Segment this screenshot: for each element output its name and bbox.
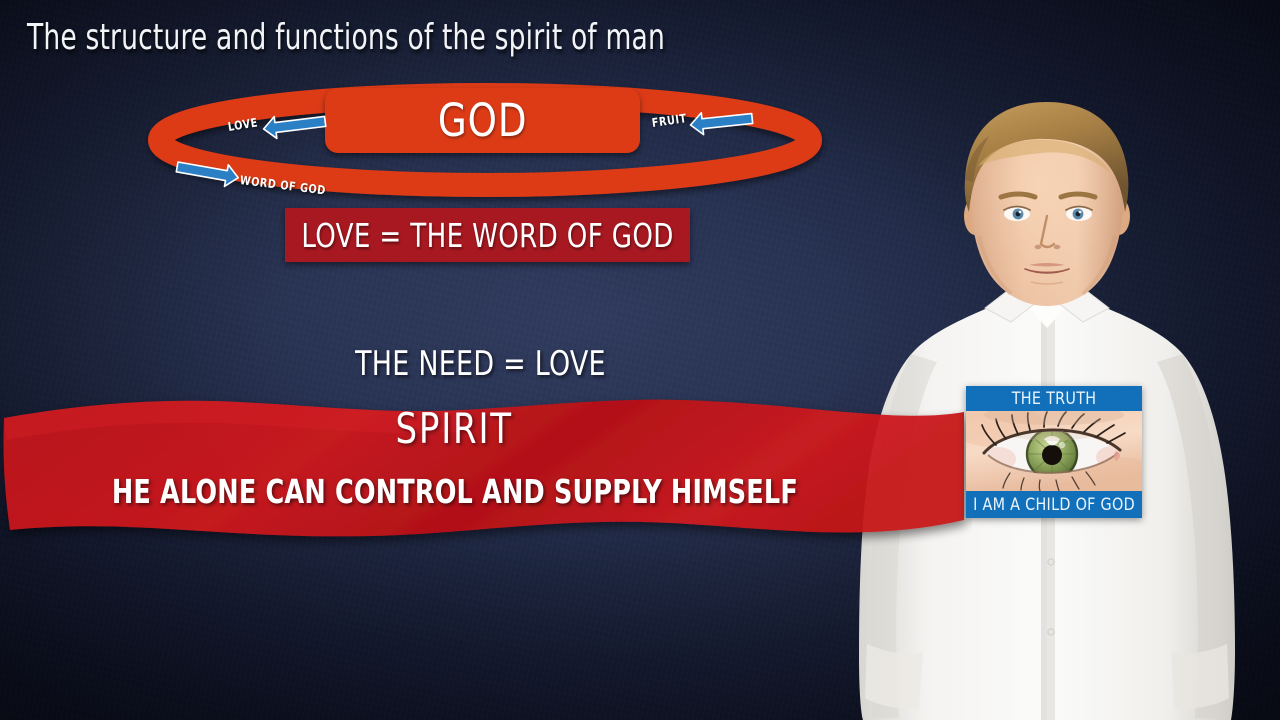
page-title: The structure and functions of the spiri… <box>27 17 665 58</box>
cycle-diagram: GOD LOVE FRUIT WORD OF GOD <box>145 78 825 203</box>
truth-card: THE TRUTH <box>966 386 1142 518</box>
truth-card-top-band: THE TRUTH <box>966 386 1142 411</box>
spirit-heading: SPIRIT <box>0 404 917 453</box>
spirit-subheading: HE ALONE CAN CONTROL AND SUPPLY HIMSELF <box>0 472 917 511</box>
arrow-left-love <box>262 110 326 139</box>
equation-bar-label: LOVE = THE WORD OF GOD <box>301 216 673 255</box>
arrow-right-word <box>175 156 240 188</box>
spirit-banner: SPIRIT HE ALONE CAN CONTROL AND SUPPLY H… <box>0 392 972 550</box>
truth-card-top-label: THE TRUTH <box>1012 389 1097 409</box>
arrow-left-fruit <box>689 108 753 136</box>
spirit-banner-text: SPIRIT HE ALONE CAN CONTROL AND SUPPLY H… <box>0 392 952 550</box>
eye-photo <box>966 411 1142 491</box>
truth-card-bottom-label: I AM A CHILD OF GOD <box>973 495 1135 515</box>
green-eye-icon <box>966 411 1142 491</box>
truth-card-bottom-band: I AM A CHILD OF GOD <box>966 491 1142 518</box>
lesson-slide: The structure and functions of the spiri… <box>0 0 1280 720</box>
equation-bar: LOVE = THE WORD OF GOD <box>285 208 690 262</box>
